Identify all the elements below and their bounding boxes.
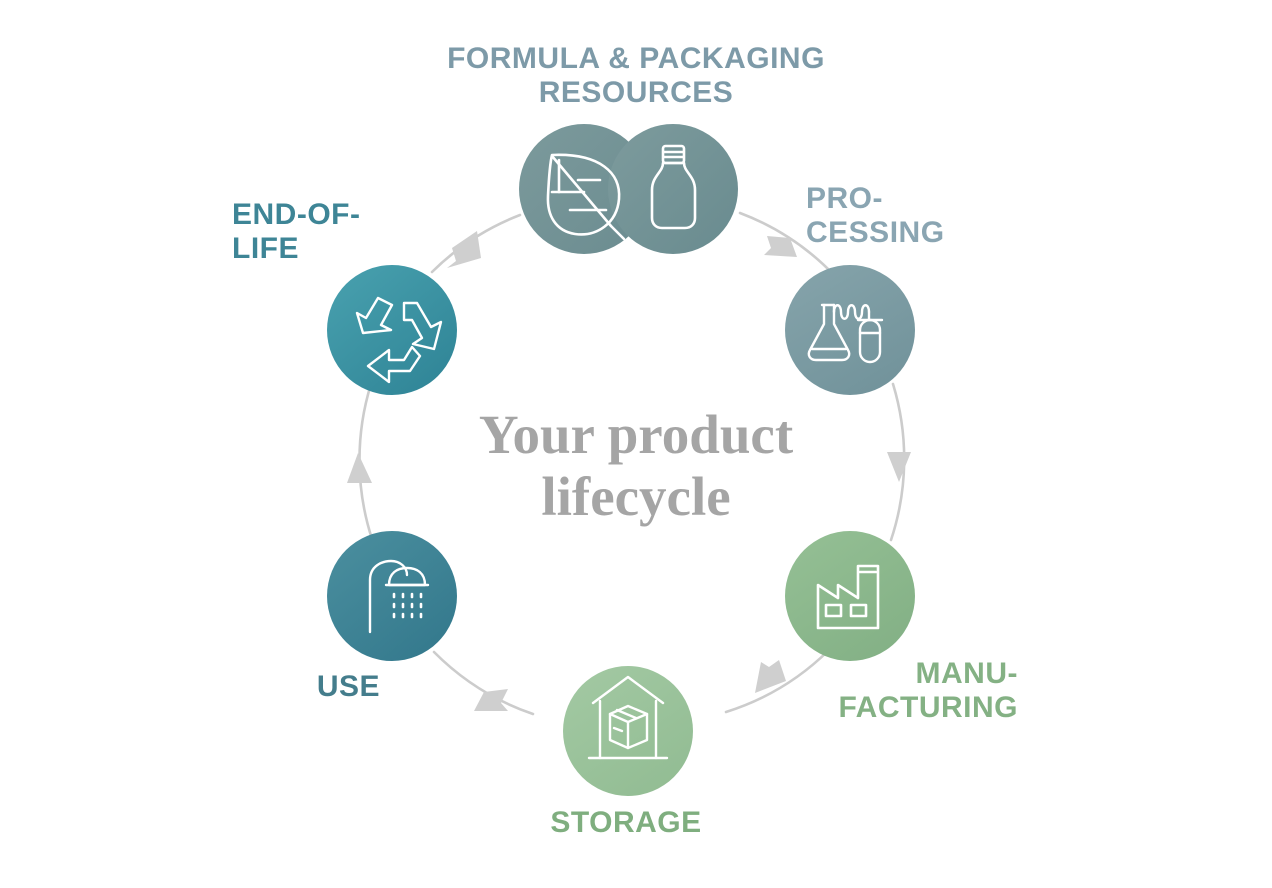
node-processing-circle[interactable] bbox=[785, 265, 915, 395]
node-manufacturing-circle[interactable] bbox=[785, 531, 915, 661]
arrowhead-to-endoflife bbox=[347, 453, 372, 483]
node-label-processing: PRO- CESSING bbox=[806, 182, 1016, 250]
node-storage[interactable] bbox=[563, 666, 693, 796]
product-lifecycle-diagram: FORMULA & PACKAGING RESOURCES PRO- CESSI… bbox=[0, 0, 1272, 888]
center-title: Your product lifecycle bbox=[386, 404, 886, 527]
arrowhead-to-resources bbox=[447, 231, 481, 268]
node-label-manufacturing: MANU- FACTURING bbox=[760, 657, 1018, 725]
node-resources-circle-bottle[interactable] bbox=[608, 124, 738, 254]
node-resources[interactable] bbox=[519, 124, 738, 254]
node-processing[interactable] bbox=[785, 265, 915, 395]
node-label-endoflife: END-OF- LIFE bbox=[232, 198, 446, 266]
node-manufacturing[interactable] bbox=[785, 531, 915, 661]
node-endoflife[interactable] bbox=[327, 265, 457, 395]
node-label-storage: STORAGE bbox=[466, 806, 786, 840]
node-use-circle[interactable] bbox=[327, 531, 457, 661]
node-label-use: USE bbox=[230, 670, 380, 704]
arrowhead-to-manufacturing bbox=[887, 452, 911, 482]
node-label-resources: FORMULA & PACKAGING RESOURCES bbox=[386, 42, 886, 110]
arrowhead-to-use bbox=[474, 689, 508, 711]
node-use[interactable] bbox=[327, 531, 457, 661]
